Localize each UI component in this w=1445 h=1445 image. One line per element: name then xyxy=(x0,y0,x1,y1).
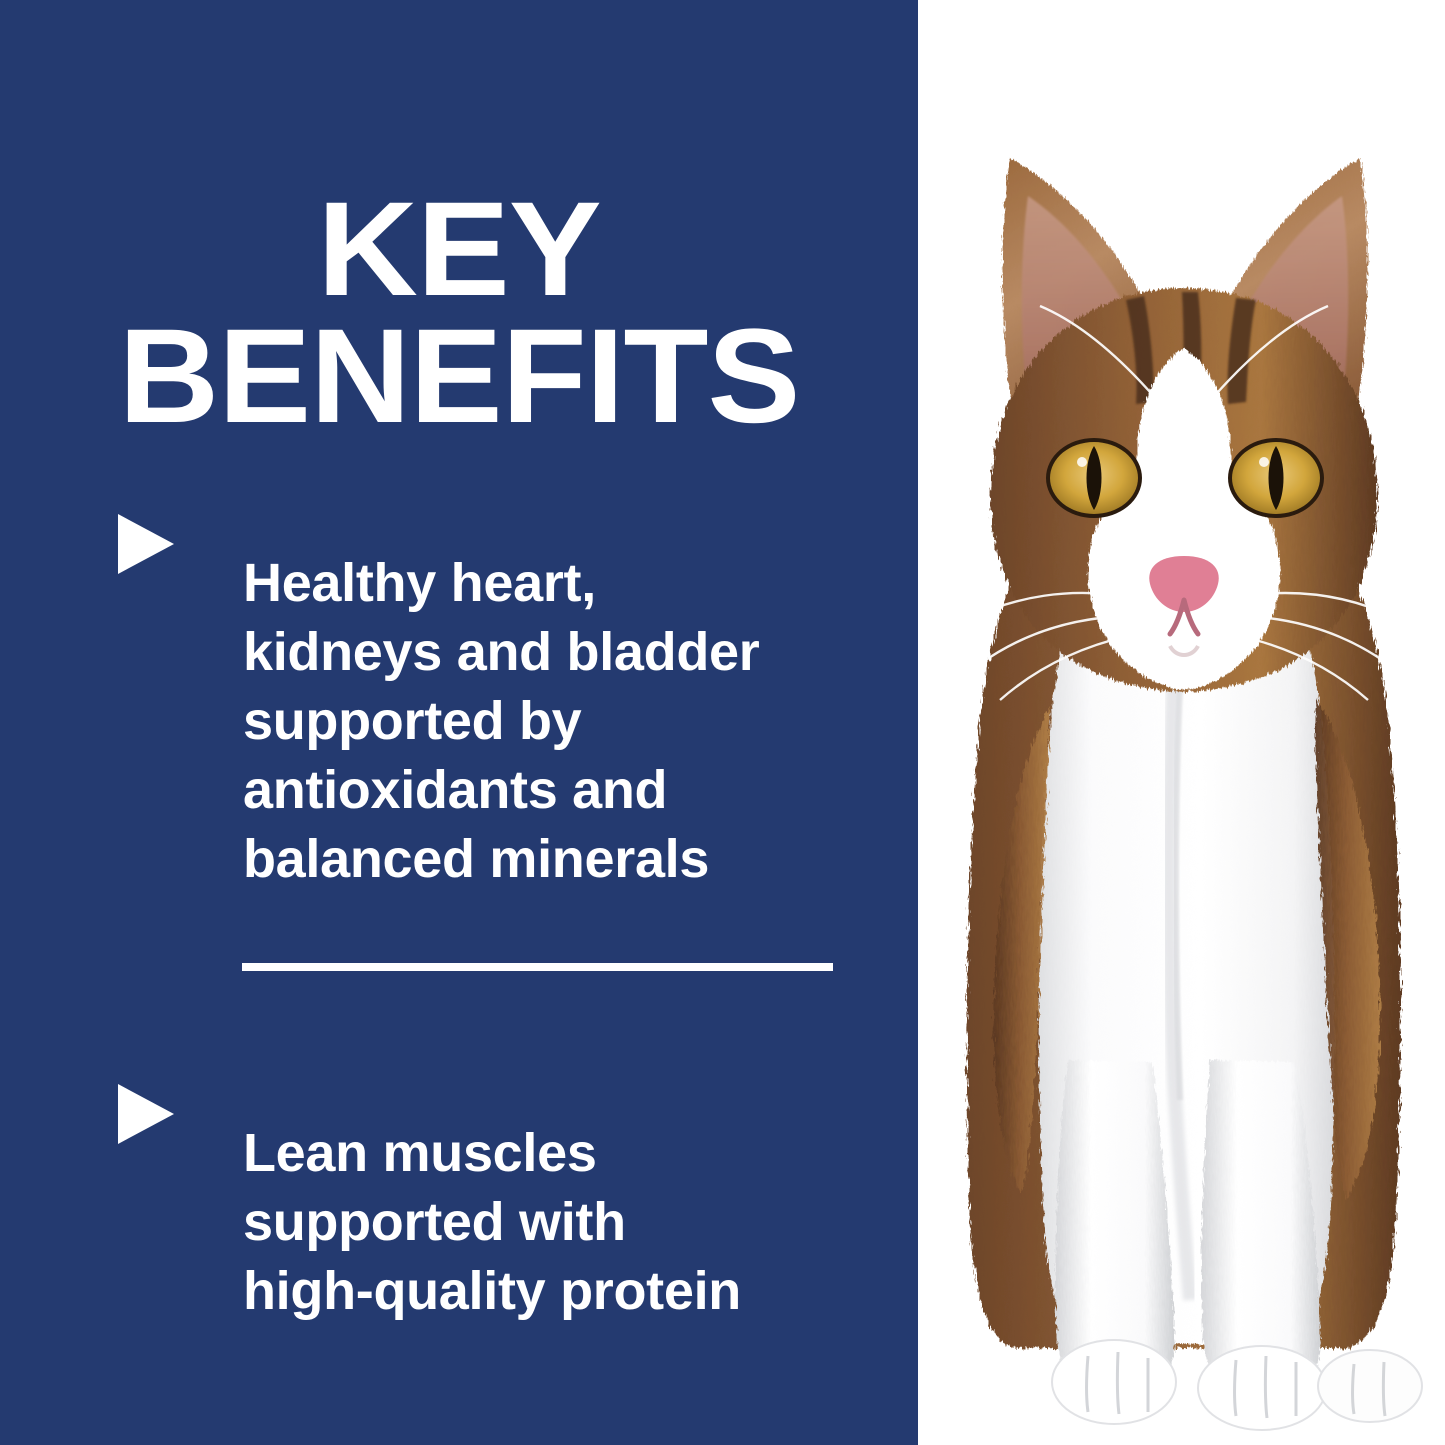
cat-illustration xyxy=(918,0,1445,1445)
page-title: KEY BENEFITS xyxy=(0,186,918,441)
benefit-text: Healthy heart, kidneys and bladder suppo… xyxy=(243,549,759,895)
cat-product-photo xyxy=(918,0,1445,1445)
section-divider xyxy=(242,963,833,971)
list-item: Lean muscles supported with high-quality… xyxy=(0,1065,918,1380)
benefit-text: Lean muscles supported with high-quality… xyxy=(243,1119,741,1326)
product-benefits-infographic: KEY BENEFITS Healthy heart, kidneys and … xyxy=(0,0,1445,1445)
key-benefits-panel: KEY BENEFITS Healthy heart, kidneys and … xyxy=(0,0,918,1445)
benefits-list: Healthy heart, kidneys and bladder suppo… xyxy=(0,495,918,1380)
triangle-right-icon xyxy=(118,1084,174,1144)
cat-paws xyxy=(1052,1340,1422,1430)
list-item: Healthy heart, kidneys and bladder suppo… xyxy=(0,495,918,949)
triangle-right-icon xyxy=(118,514,174,574)
